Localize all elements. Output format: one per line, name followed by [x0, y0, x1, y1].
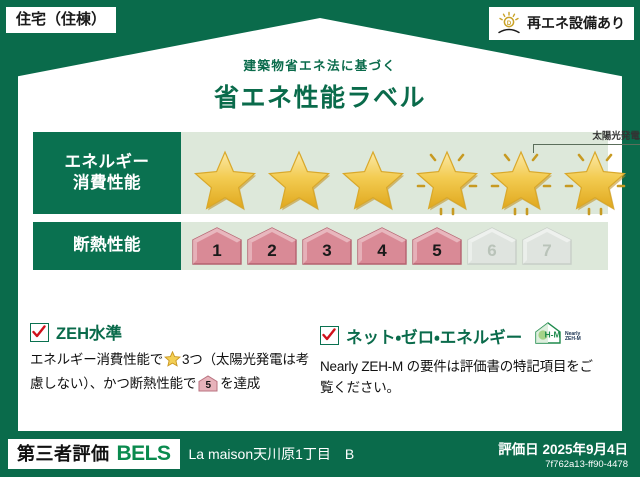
insulation-level-number: 6 [487, 241, 496, 266]
checkmark-icon [320, 326, 339, 345]
solar-annotation-bracket [533, 144, 640, 153]
svg-text:H-M: H-M [545, 330, 561, 340]
star-1 [189, 146, 261, 210]
energy-performance-row: エネルギー 消費性能 太陽光発電(自家消費)分 [33, 132, 608, 214]
energy-star-rating [189, 146, 631, 210]
solar-annotation-label: 太陽光発電(自家消費)分 [533, 132, 640, 142]
category-tag-label: 住宅（住棟） [16, 11, 106, 28]
energy-label-line1: エネルギー [65, 152, 150, 173]
insulation-level-6: 6 [466, 226, 518, 266]
insulation-badge-icon: 5 [198, 375, 218, 392]
star-2 [263, 146, 335, 210]
insulation-label-line1: 断熱性能 [73, 235, 141, 256]
title-subtitle: 建築物省エネ法に基づく [0, 55, 640, 74]
energy-label-line2: 消費性能 [73, 173, 141, 194]
renewable-energy-badge: D 再エネ設備あり [489, 7, 634, 40]
criteria-item-zeh: ZEH水準 エネルギー消費性能で3つ（太陽光発電は考慮しない）、かつ断熱性能で5… [30, 320, 320, 399]
criteria-section: ZEH水準 エネルギー消費性能で3つ（太陽光発電は考慮しない）、かつ断熱性能で5… [30, 320, 610, 399]
insulation-level-number: 7 [542, 241, 551, 266]
energy-performance-body: 太陽光発電(自家消費)分 [181, 132, 631, 214]
footer-bar: 第三者評価 BELS La maison天川原1丁目 B 評価日 2025年9月… [0, 431, 640, 477]
star-4 [411, 146, 483, 210]
energy-label-root: 住宅（住棟） D 再エネ設備あり 建築物省エネ法に基づく 省エネ性能ラベル [0, 0, 640, 477]
star-3 [337, 146, 409, 210]
page-title: 省エネ性能ラベル [0, 78, 640, 114]
checkmark-icon [30, 323, 49, 342]
criteria-zeh-text-1: エネルギー消費性能で [30, 352, 163, 367]
evaluation-date: 評価日 2025年9月4日 [498, 438, 628, 458]
criteria-nze-title: ネット・ゼロ・エネルギー [346, 324, 522, 348]
insulation-level-number: 3 [322, 241, 331, 266]
criteria-nze-body: Nearly ZEH-M の要件は評価書の特記項目をご覧ください。 [320, 357, 600, 399]
bels-jp-label: 第三者評価 [17, 445, 110, 463]
footer-meta: 評価日 2025年9月4日 7f762a13-ff90-4478 [498, 438, 628, 470]
insulation-level-number: 2 [267, 241, 276, 266]
insulation-level-3: 3 [301, 226, 353, 266]
zeh-m-logo-sub2: ZEH-M [565, 336, 581, 342]
insulation-level-number: 4 [377, 241, 386, 266]
star-6 [559, 146, 631, 210]
insulation-performance-row: 断熱性能 1 2 3 [33, 222, 608, 270]
svg-text:D: D [507, 21, 512, 27]
insulation-level-2: 2 [246, 226, 298, 266]
sun-icon: D [496, 11, 522, 35]
insulation-level-number: 1 [212, 241, 221, 266]
evaluation-id: 7f762a13-ff90-4478 [498, 459, 628, 470]
category-tag: 住宅（住棟） [6, 7, 116, 33]
insulation-badge-number: 5 [198, 378, 218, 394]
star-icon [164, 351, 181, 374]
criteria-zeh-header: ZEH水準 [30, 320, 310, 344]
rating-panel: エネルギー 消費性能 太陽光発電(自家消費)分 [33, 132, 608, 278]
renewable-badge-label: 再エネ設備あり [527, 16, 625, 30]
criteria-zeh-title: ZEH水準 [56, 320, 122, 344]
criteria-nze-header: ネット・ゼロ・エネルギー H-M Nearly ZEH-M [320, 320, 600, 351]
criteria-zeh-text-3: を達成 [220, 376, 260, 391]
insulation-level-1: 1 [191, 226, 243, 266]
insulation-performance-body: 1 2 3 4 5 [181, 222, 608, 270]
star-5 [485, 146, 557, 210]
bels-tag: 第三者評価 BELS [8, 439, 180, 469]
insulation-level-7: 7 [521, 226, 573, 266]
solar-annotation: 太陽光発電(自家消費)分 [533, 132, 640, 153]
energy-performance-label: エネルギー 消費性能 [33, 132, 181, 214]
criteria-item-net-zero-energy: ネット・ゼロ・エネルギー H-M Nearly ZEH-M Nearly ZEH… [320, 320, 610, 399]
bels-en-label: BELS [117, 443, 171, 464]
criteria-zeh-body: エネルギー消費性能で3つ（太陽光発電は考慮しない）、かつ断熱性能で5を達成 [30, 350, 310, 395]
zeh-m-logo: H-M Nearly ZEH-M [532, 320, 590, 351]
title-block: 建築物省エネ法に基づく 省エネ性能ラベル [0, 55, 640, 114]
insulation-level-number: 5 [432, 241, 441, 266]
insulation-performance-label: 断熱性能 [33, 222, 181, 270]
insulation-level-5: 5 [411, 226, 463, 266]
insulation-level-4: 4 [356, 226, 408, 266]
insulation-level-scale: 1 2 3 4 5 [191, 226, 573, 266]
building-name: La maison天川原1丁目 B [189, 444, 355, 464]
